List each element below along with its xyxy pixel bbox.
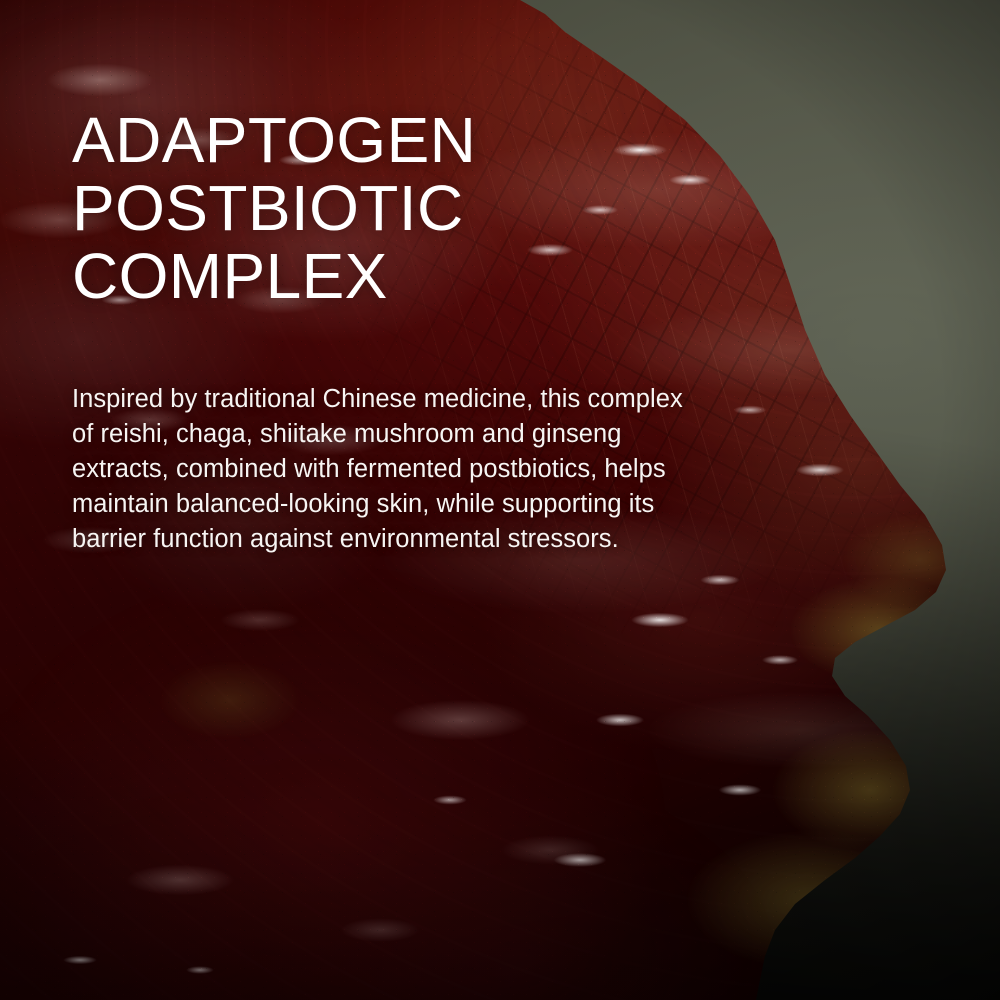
product-hero-image: ADAPTOGEN POSTBIOTIC COMPLEX Inspired by… [0,0,1000,1000]
overlay-copy-block: ADAPTOGEN POSTBIOTIC COMPLEX Inspired by… [72,0,772,557]
product-headline: ADAPTOGEN POSTBIOTIC COMPLEX [72,0,772,310]
product-description: Inspired by traditional Chinese medicine… [72,310,687,557]
